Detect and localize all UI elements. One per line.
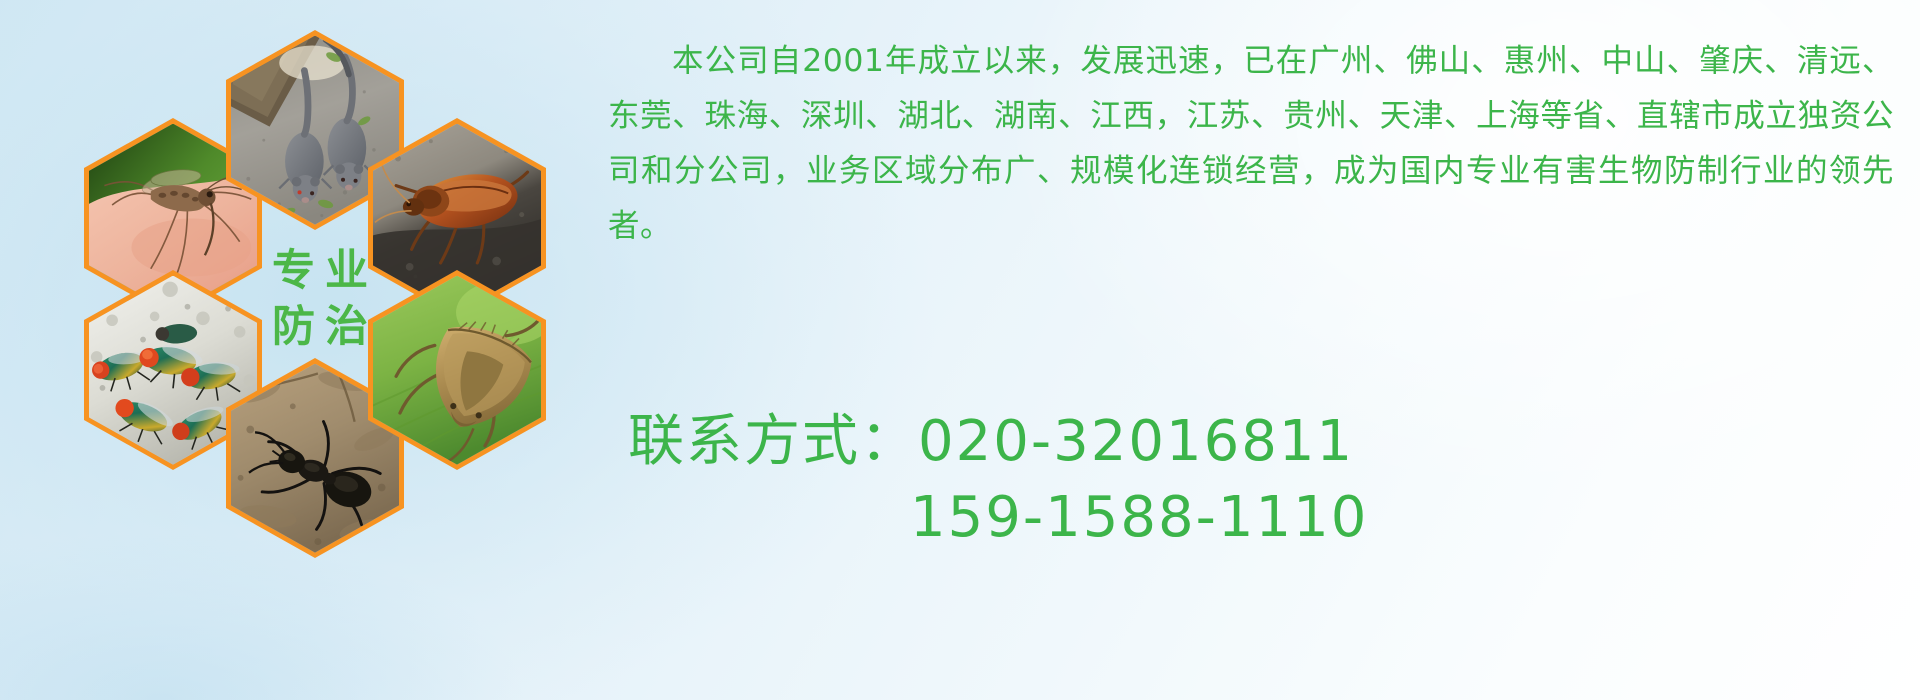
intro-paragraph: 本公司自2001年成立以来，发展迅速，已在广州、佛山、惠州、中山、肇庆、清远、东… xyxy=(608,34,1894,254)
center-slogan: 专业 防治 xyxy=(231,200,399,389)
contact-line-primary[interactable]: 联系方式：020-32016811 xyxy=(628,404,1878,480)
slogan-line-2: 防治 xyxy=(262,305,378,350)
slogan-line-1: 专业 xyxy=(262,249,378,294)
contact-block: 联系方式：020-32016811 159-1588-1110 xyxy=(628,404,1878,556)
contact-line-secondary[interactable]: 159-1588-1110 xyxy=(628,480,1878,556)
hex-center-inner: 专业 防治 xyxy=(231,200,399,389)
pest-control-banner: 专业 防治 本公司自2001年成立以来，发展迅速，已在广州、佛山、惠州、中山、肇… xyxy=(0,0,1920,700)
honeycomb-gallery: 专业 防治 xyxy=(78,8,598,568)
intro-copy-block: 本公司自2001年成立以来，发展迅速，已在广州、佛山、惠州、中山、肇庆、清远、东… xyxy=(608,34,1908,254)
